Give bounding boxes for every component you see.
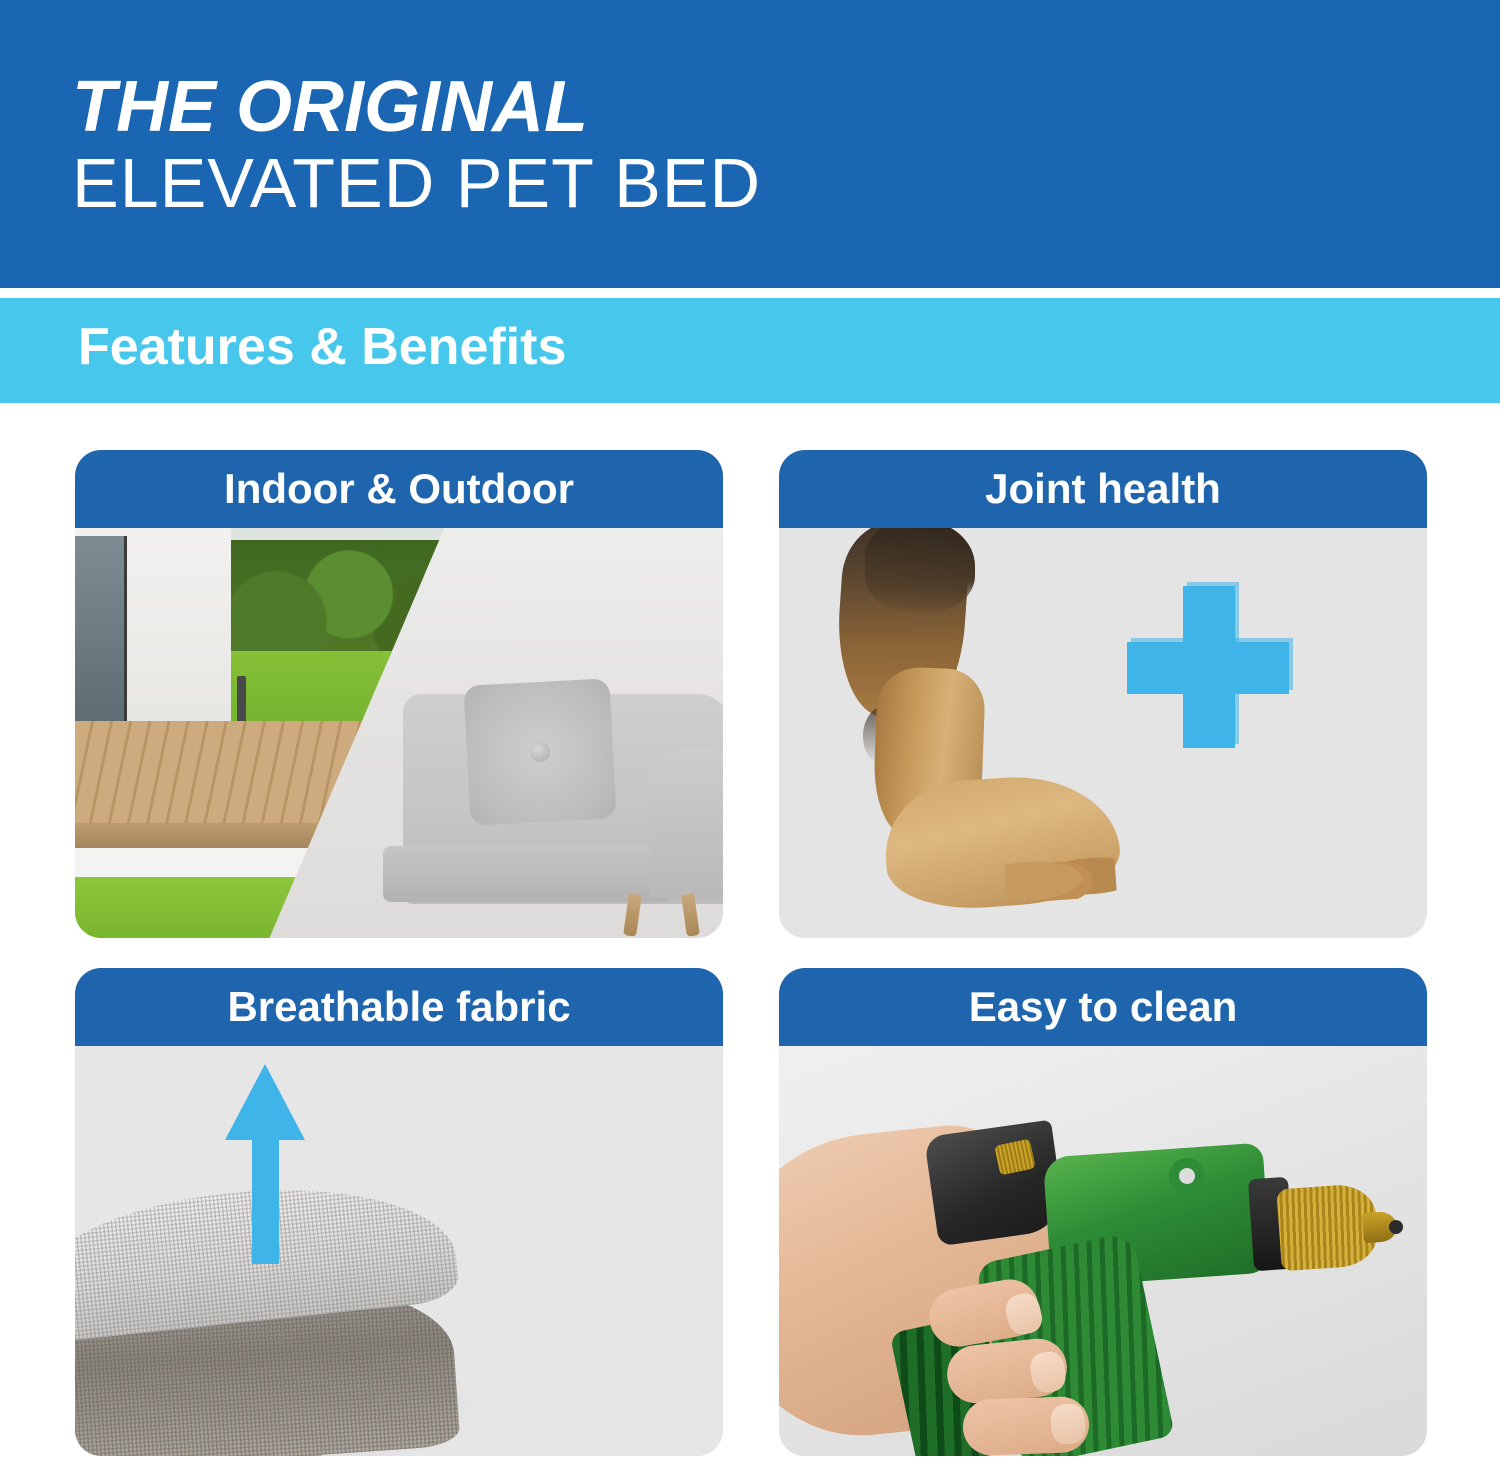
card-image-breathable-fabric bbox=[75, 1046, 723, 1456]
card-header: Indoor & Outdoor bbox=[75, 450, 723, 528]
card-image-joint-health bbox=[779, 528, 1427, 938]
sofa-cushion bbox=[463, 678, 616, 825]
card-image-indoor-outdoor bbox=[75, 528, 723, 938]
feature-card-indoor-outdoor: Indoor & Outdoor bbox=[75, 450, 723, 938]
feature-card-breathable-fabric: Breathable fabric bbox=[75, 968, 723, 1456]
garden-light-post bbox=[237, 676, 246, 728]
sofa-armrest bbox=[649, 748, 723, 898]
hose-nozzle-photo bbox=[779, 1046, 1427, 1456]
dog-leg-dark-fur bbox=[865, 528, 975, 612]
card-header: Joint health bbox=[779, 450, 1427, 528]
card-title: Joint health bbox=[985, 465, 1221, 513]
card-header: Easy to clean bbox=[779, 968, 1427, 1046]
header-banner: THE ORIGINAL ELEVATED PET BED bbox=[0, 0, 1500, 288]
section-bar-features-benefits: Features & Benefits bbox=[0, 298, 1500, 403]
fingernail bbox=[1050, 1403, 1087, 1445]
section-title: Features & Benefits bbox=[78, 317, 566, 377]
airflow-arrow-up-icon bbox=[225, 1064, 305, 1264]
header-title-group: THE ORIGINAL ELEVATED PET BED bbox=[72, 72, 1272, 220]
house-window bbox=[75, 536, 127, 725]
page-title-line2: ELEVATED PET BED bbox=[72, 147, 1272, 221]
card-image-easy-to-clean bbox=[779, 1046, 1427, 1456]
page-title-line1: THE ORIGINAL bbox=[72, 72, 1272, 143]
dog-paw-toes bbox=[1004, 844, 1117, 904]
indoor-outdoor-split-photo bbox=[75, 528, 723, 938]
feature-card-grid: Indoor & Outdoor bbox=[0, 430, 1500, 1465]
mesh-fabric-photo bbox=[75, 1046, 723, 1456]
feature-card-easy-to-clean: Easy to clean bbox=[779, 968, 1427, 1456]
card-header: Breathable fabric bbox=[75, 968, 723, 1046]
nozzle-outlet bbox=[1389, 1220, 1403, 1234]
card-title: Breathable fabric bbox=[227, 983, 570, 1031]
medical-cross-icon bbox=[1127, 586, 1289, 748]
card-title: Easy to clean bbox=[969, 983, 1237, 1031]
feature-card-joint-health: Joint health bbox=[779, 450, 1427, 938]
cushion-button bbox=[529, 741, 550, 762]
card-title: Indoor & Outdoor bbox=[224, 465, 574, 513]
dog-leg-photo bbox=[779, 528, 1427, 938]
